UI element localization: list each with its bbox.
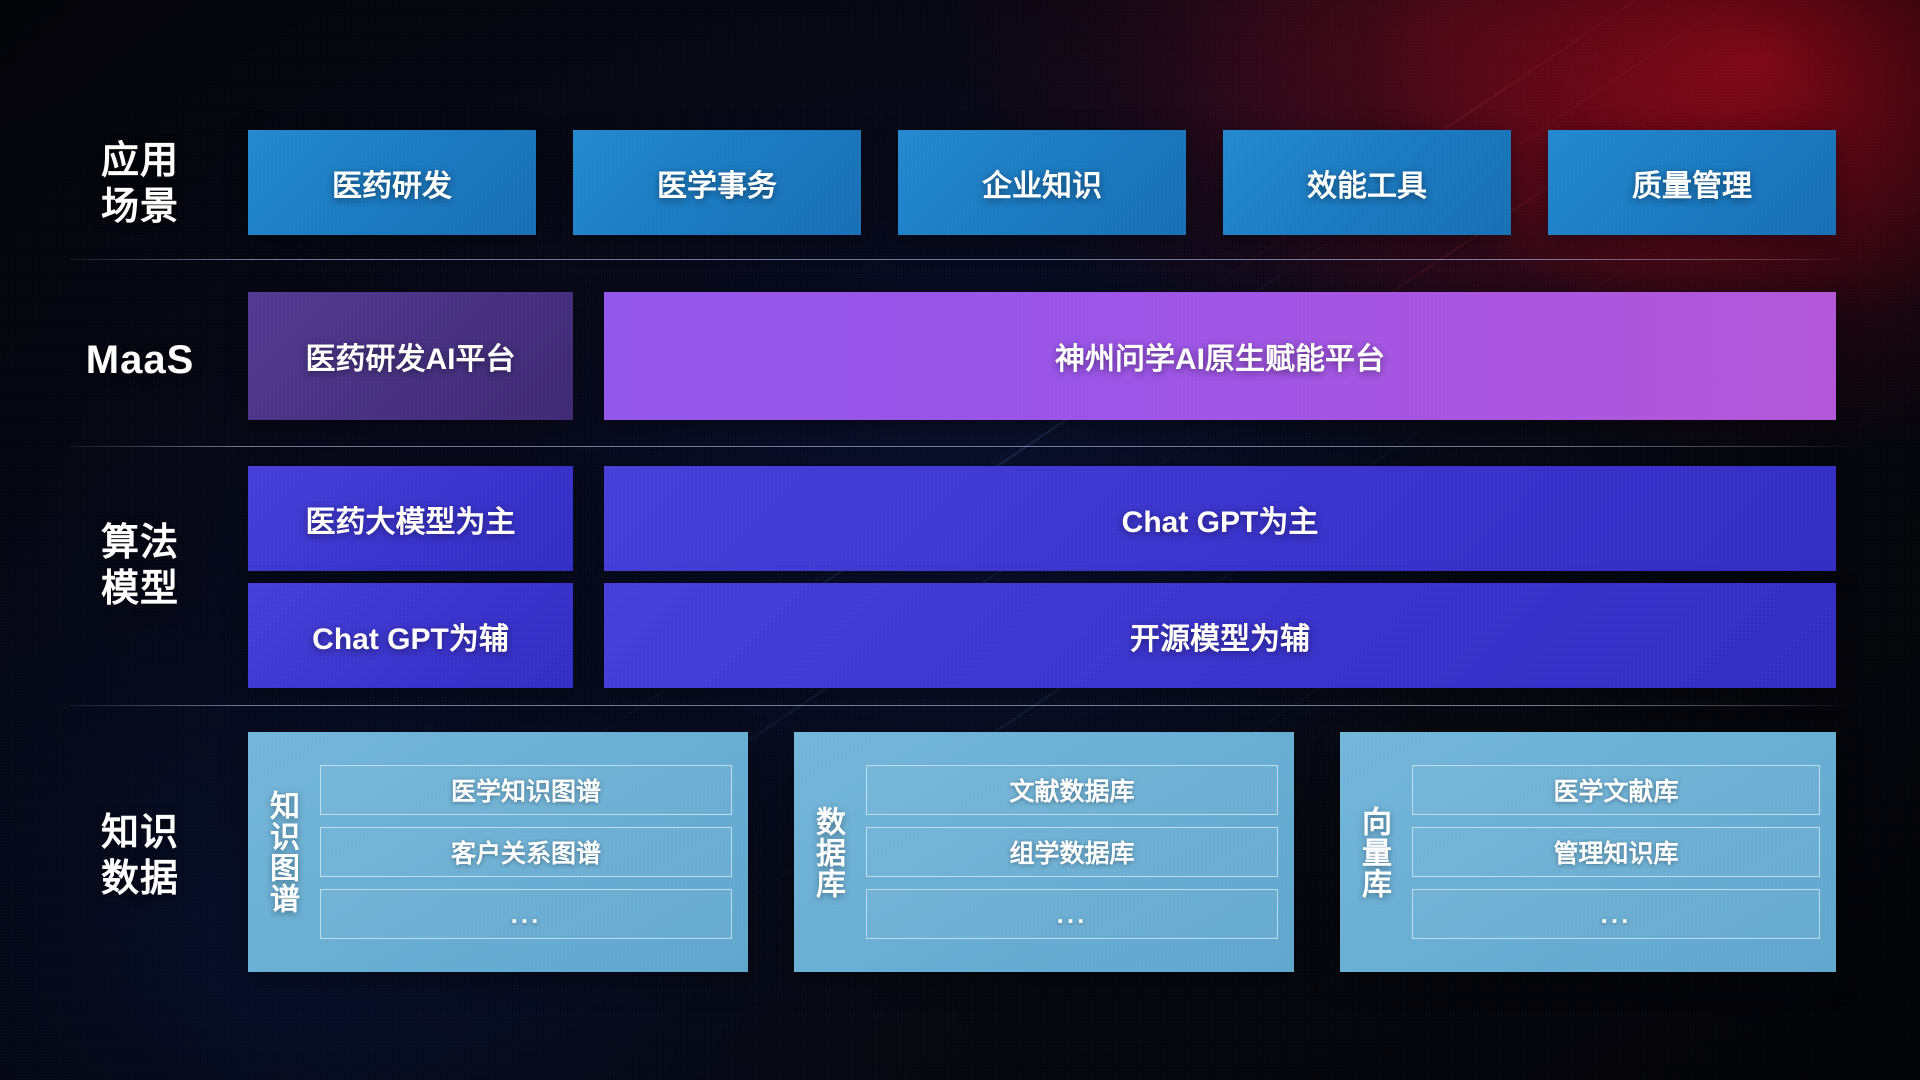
row-label-knowledge-line2: 数据 <box>40 856 240 902</box>
knowledge-item-3-3[interactable]: ... <box>1412 889 1820 939</box>
row-label-application-scenarios: 应用 场景 <box>40 138 240 231</box>
app-scenario-box-1[interactable]: 医药研发 <box>248 130 536 235</box>
knowledge-item-2-3[interactable]: ... <box>866 889 1278 939</box>
row-label-knowledge-data: 知识 数据 <box>40 810 240 903</box>
knowledge-item-label-1-1: 医学知识图谱 <box>451 772 601 808</box>
knowledge-item-3-1[interactable]: 医学文献库 <box>1412 765 1820 815</box>
app-scenario-box-3[interactable]: 企业知识 <box>898 130 1186 235</box>
knowledge-vertical-text-1: 知识图谱 <box>265 790 297 914</box>
row-label-algorithm-models: 算法 模型 <box>40 520 240 613</box>
algo-box-opensource-secondary[interactable]: 开源模型为辅 <box>604 583 1836 688</box>
knowledge-item-1-2[interactable]: 客户关系图谱 <box>320 827 732 877</box>
row-label-algo-line1: 算法 <box>40 520 240 566</box>
algo-label-pharma-llm-primary: 医药大模型为主 <box>306 497 516 541</box>
knowledge-item-label-1-3: ... <box>511 899 542 930</box>
algo-box-chatgpt-primary[interactable]: Chat GPT为主 <box>604 466 1836 571</box>
knowledge-panel-knowledge-graph[interactable]: 知识图谱 医学知识图谱 客户关系图谱 ... <box>248 732 748 972</box>
row-label-maas: MaaS <box>40 336 240 385</box>
knowledge-item-label-2-1: 文献数据库 <box>1009 772 1134 808</box>
slide-canvas: 应用 场景 医药研发 医学事务 企业知识 效能工具 质量管理 MaaS 医药研发… <box>0 0 1920 1080</box>
maas-box-pharma-ai-platform[interactable]: 医药研发AI平台 <box>248 292 573 420</box>
maas-box-shenzhou-platform[interactable]: 神州问学AI原生赋能平台 <box>604 292 1836 420</box>
maas-label-shenzhou-platform: 神州问学AI原生赋能平台 <box>1055 334 1385 378</box>
knowledge-item-1-1[interactable]: 医学知识图谱 <box>320 765 732 815</box>
knowledge-item-1-3[interactable]: ... <box>320 889 732 939</box>
app-scenario-box-2[interactable]: 医学事务 <box>573 130 861 235</box>
row-label-algo-line2: 模型 <box>40 566 240 612</box>
knowledge-item-2-2[interactable]: 组学数据库 <box>866 827 1278 877</box>
knowledge-items-1: 医学知识图谱 客户关系图谱 ... <box>314 732 748 972</box>
divider-after-maas <box>70 446 1850 447</box>
algo-label-chatgpt-primary: Chat GPT为主 <box>1122 497 1319 541</box>
knowledge-vertical-text-2: 数据库 <box>811 806 843 899</box>
knowledge-item-label-1-2: 客户关系图谱 <box>451 834 601 870</box>
knowledge-item-label-3-3: ... <box>1601 899 1632 930</box>
knowledge-item-label-3-1: 医学文献库 <box>1553 772 1678 808</box>
knowledge-panel-vertical-label-1: 知识图谱 <box>248 732 314 972</box>
algo-box-chatgpt-secondary[interactable]: Chat GPT为辅 <box>248 583 573 688</box>
algo-box-pharma-llm-primary[interactable]: 医药大模型为主 <box>248 466 573 571</box>
row-label-knowledge-line1: 知识 <box>40 810 240 856</box>
maas-label-pharma-ai-platform: 医药研发AI平台 <box>306 334 516 378</box>
knowledge-panel-vertical-label-2: 数据库 <box>794 732 860 972</box>
knowledge-item-label-2-2: 组学数据库 <box>1009 834 1134 870</box>
app-scenario-box-4[interactable]: 效能工具 <box>1223 130 1511 235</box>
knowledge-item-3-2[interactable]: 管理知识库 <box>1412 827 1820 877</box>
app-scenario-label-1: 医药研发 <box>332 161 452 205</box>
app-scenario-label-2: 医学事务 <box>657 161 777 205</box>
knowledge-item-label-2-3: ... <box>1057 899 1088 930</box>
knowledge-vertical-text-3: 向量库 <box>1357 806 1389 899</box>
row-label-line1: 应用 <box>40 138 240 184</box>
row-label-maas-text: MaaS <box>40 336 240 385</box>
algo-label-opensource-secondary: 开源模型为辅 <box>1130 614 1310 658</box>
row-label-line2: 场景 <box>40 184 240 230</box>
knowledge-panel-database[interactable]: 数据库 文献数据库 组学数据库 ... <box>794 732 1294 972</box>
app-scenario-label-3: 企业知识 <box>982 161 1102 205</box>
knowledge-panel-vector-store[interactable]: 向量库 医学文献库 管理知识库 ... <box>1340 732 1836 972</box>
knowledge-item-2-1[interactable]: 文献数据库 <box>866 765 1278 815</box>
knowledge-items-2: 文献数据库 组学数据库 ... <box>860 732 1294 972</box>
divider-after-application-scenarios <box>70 259 1850 260</box>
app-scenario-label-5: 质量管理 <box>1632 161 1752 205</box>
knowledge-items-3: 医学文献库 管理知识库 ... <box>1406 732 1836 972</box>
algo-label-chatgpt-secondary: Chat GPT为辅 <box>312 614 509 658</box>
divider-after-algorithm-models <box>70 705 1850 706</box>
app-scenario-label-4: 效能工具 <box>1307 161 1427 205</box>
app-scenario-box-5[interactable]: 质量管理 <box>1548 130 1836 235</box>
knowledge-item-label-3-2: 管理知识库 <box>1553 834 1678 870</box>
knowledge-panel-vertical-label-3: 向量库 <box>1340 732 1406 972</box>
